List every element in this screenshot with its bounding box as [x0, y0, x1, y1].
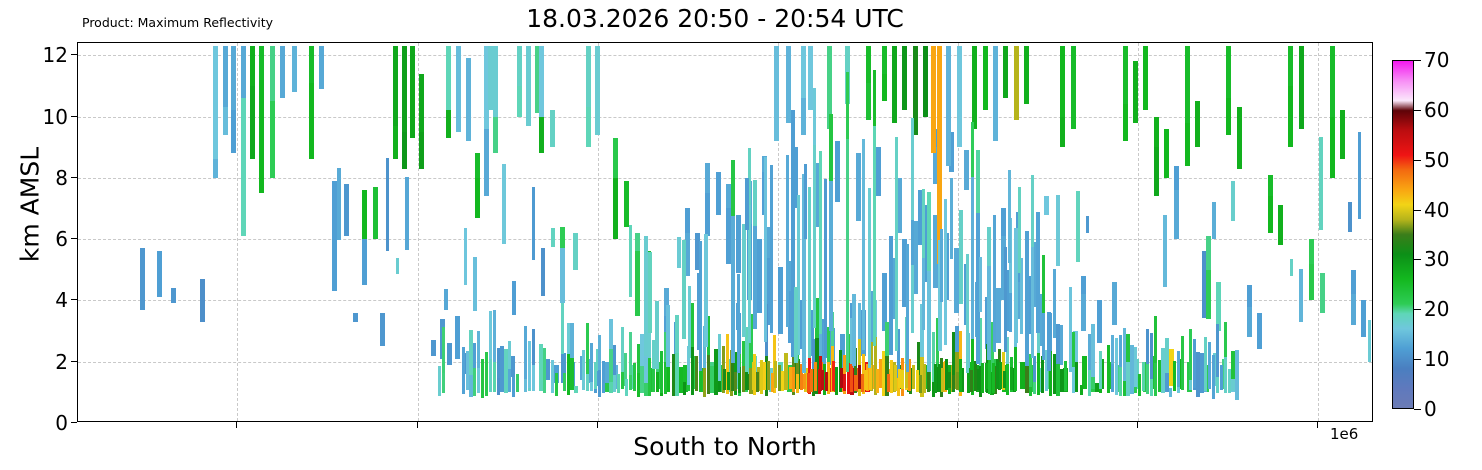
colorbar-tick-label-50: 50: [1424, 148, 1449, 172]
reflectivity-column: [259, 46, 264, 80]
colorbar-tick-label-20: 20: [1424, 297, 1449, 321]
reflectivity-column: [714, 349, 717, 395]
reflectivity-column: [695, 356, 698, 390]
reflectivity-column: [726, 205, 731, 263]
reflectivity-column: [892, 46, 897, 123]
reflectivity-column: [876, 147, 881, 196]
reflectivity-column: [1185, 117, 1190, 166]
reflectivity-column: [756, 372, 759, 392]
reflectivity-column: [1319, 137, 1323, 230]
reflectivity-column: [898, 369, 901, 388]
reflectivity-column: [250, 46, 255, 86]
reflectivity-column: [419, 129, 424, 169]
reflectivity-column: [1123, 46, 1128, 104]
reflectivity-column: [517, 46, 522, 86]
reflectivity-column: [1340, 110, 1345, 159]
colorbar-tick-label-0: 0: [1424, 397, 1437, 421]
reflectivity-column: [488, 46, 493, 110]
x-tick-mark: [417, 422, 418, 428]
reflectivity-column: [493, 310, 496, 362]
reflectivity-column: [1064, 361, 1067, 391]
reflectivity-column: [1097, 300, 1102, 343]
reflectivity-column: [959, 210, 963, 304]
colorbar-tick-label-70: 70: [1424, 48, 1449, 72]
reflectivity-column: [716, 172, 721, 215]
colorbar-tick-mark: [1414, 110, 1421, 111]
reflectivity-column: [1056, 195, 1060, 266]
reflectivity-column: [801, 46, 806, 98]
reflectivity-column: [821, 370, 824, 390]
reflectivity-column: [489, 311, 492, 359]
reflectivity-column: [528, 341, 531, 388]
reflectivity-column: [916, 370, 919, 392]
reflectivity-column: [887, 374, 890, 392]
reflectivity-column: [438, 366, 441, 396]
reflectivity-column: [731, 198, 734, 363]
reflectivity-column: [561, 303, 565, 354]
reflectivity-column: [718, 334, 721, 381]
reflectivity-column: [752, 362, 755, 390]
reflectivity-column: [794, 287, 798, 363]
reflectivity-column: [1033, 356, 1036, 382]
reflectivity-column: [524, 326, 527, 379]
reflectivity-column: [613, 175, 618, 239]
reflectivity-column: [832, 361, 835, 391]
reflectivity-column: [835, 141, 840, 202]
reflectivity-column: [477, 331, 480, 368]
colorbar-gradient: [1392, 60, 1414, 409]
reflectivity-column: [1165, 338, 1168, 373]
colorbar-tick-mark: [1414, 160, 1421, 161]
y-tick-label-0: 0: [34, 411, 68, 435]
reflectivity-column: [813, 127, 816, 328]
reflectivity-column: [861, 374, 864, 393]
reflectivity-column: [462, 347, 465, 394]
reflectivity-column: [852, 294, 856, 366]
reflectivity-column: [504, 349, 507, 393]
reflectivity-column: [621, 327, 624, 373]
reflectivity-column: [1173, 361, 1176, 390]
reflectivity-column: [1081, 291, 1086, 331]
reflectivity-column: [1208, 342, 1211, 389]
reflectivity-column: [736, 215, 741, 273]
reflectivity-column: [1196, 352, 1199, 397]
reflectivity-column: [466, 58, 471, 141]
reflectivity-column: [1053, 354, 1056, 394]
colorbar-tick-label-60: 60: [1424, 98, 1449, 122]
reflectivity-column: [1268, 175, 1273, 196]
reflectivity-column: [1115, 338, 1118, 389]
reflectivity-column: [955, 326, 958, 352]
y-tick-mark: [71, 422, 77, 423]
reflectivity-column: [1047, 312, 1050, 371]
reflectivity-column: [944, 199, 947, 345]
reflectivity-column: [866, 46, 871, 86]
reflectivity-column: [979, 257, 983, 312]
reflectivity-column: [1095, 383, 1098, 391]
reflectivity-column: [475, 153, 480, 178]
reflectivity-column: [666, 305, 669, 367]
colorbar-tick-label-40: 40: [1424, 198, 1449, 222]
reflectivity-column: [966, 254, 969, 373]
reflectivity-column: [889, 236, 892, 355]
reflectivity-column: [1134, 347, 1137, 387]
reflectivity-column: [464, 228, 468, 285]
reflectivity-column: [971, 122, 974, 177]
reflectivity-column: [555, 373, 558, 396]
reflectivity-column: [635, 233, 640, 251]
reflectivity-column: [885, 322, 888, 356]
reflectivity-column: [1031, 229, 1034, 358]
reflectivity-column: [512, 377, 515, 396]
reflectivity-column: [829, 163, 832, 331]
reflectivity-column: [213, 159, 218, 177]
reflectivity-column: [1169, 388, 1172, 397]
reflectivity-column: [1257, 313, 1262, 350]
reflectivity-column: [763, 362, 766, 390]
reflectivity-column: [1212, 202, 1216, 239]
reflectivity-column: [1072, 332, 1075, 367]
reflectivity-column: [992, 363, 995, 393]
reflectivity-column: [803, 374, 806, 389]
reflectivity-column: [778, 267, 783, 334]
reflectivity-column: [745, 178, 749, 230]
reflectivity-data: [78, 43, 1372, 421]
reflectivity-column: [1041, 356, 1044, 393]
reflectivity-column: [1088, 334, 1091, 370]
reflectivity-column: [1237, 107, 1242, 168]
reflectivity-column: [1177, 351, 1180, 387]
reflectivity-column: [1161, 348, 1164, 393]
reflectivity-column: [1309, 258, 1314, 301]
reflectivity-column: [843, 374, 846, 391]
reflectivity-column: [446, 46, 451, 110]
reflectivity-column: [200, 279, 205, 322]
reflectivity-column: [846, 120, 849, 372]
y-tick-label-4: 4: [34, 288, 68, 312]
reflectivity-column: [629, 225, 633, 297]
reflectivity-column: [1130, 345, 1133, 394]
reflectivity-column: [781, 371, 784, 390]
x-tick-mark: [957, 422, 958, 428]
reflectivity-column: [940, 229, 944, 302]
reflectivity-column: [1146, 329, 1149, 364]
reflectivity-column: [778, 365, 781, 391]
reflectivity-column: [810, 369, 813, 392]
plot-area[interactable]: [77, 42, 1373, 422]
y-tick-label-6: 6: [34, 227, 68, 251]
reflectivity-column: [688, 286, 691, 357]
reflectivity-column: [309, 46, 314, 83]
reflectivity-column: [734, 372, 737, 391]
reflectivity-column: [402, 46, 407, 132]
radar-cross-section-figure: Product: Maximum Reflectivity 18.03.2026…: [0, 0, 1482, 470]
reflectivity-column: [280, 46, 285, 98]
reflectivity-column: [573, 233, 578, 270]
reflectivity-column: [241, 46, 246, 98]
y-tick-label-12: 12: [34, 43, 68, 67]
reflectivity-column: [987, 227, 990, 266]
reflectivity-column: [442, 327, 445, 373]
reflectivity-column: [1003, 371, 1006, 388]
reflectivity-column: [598, 335, 601, 371]
reflectivity-column: [808, 46, 813, 110]
reflectivity-column: [1204, 337, 1207, 390]
reflectivity-column: [879, 359, 882, 389]
reflectivity-column: [1133, 61, 1138, 122]
reflectivity-column: [539, 344, 542, 391]
reflectivity-column: [856, 153, 861, 220]
y-tick-labels: 024681012: [28, 42, 68, 422]
reflectivity-column: [1206, 236, 1211, 270]
reflectivity-column: [475, 172, 480, 218]
reflectivity-column: [858, 365, 861, 389]
reflectivity-column: [393, 126, 398, 160]
y-tick-label-2: 2: [34, 350, 68, 374]
reflectivity-column: [672, 354, 675, 396]
reflectivity-column: [873, 70, 876, 125]
reflectivity-column: [660, 351, 663, 393]
reflectivity-column: [551, 360, 554, 392]
reflectivity-column: [386, 158, 390, 251]
reflectivity-column: [1080, 385, 1083, 395]
reflectivity-column: [957, 46, 962, 147]
reflectivity-column: [983, 46, 988, 110]
reflectivity-column: [157, 251, 162, 297]
reflectivity-column: [854, 375, 857, 391]
reflectivity-column: [629, 332, 632, 376]
reflectivity-column: [644, 236, 647, 356]
reflectivity-column: [850, 364, 853, 392]
reflectivity-column: [981, 363, 984, 393]
reflectivity-column: [344, 184, 349, 236]
reflectivity-column: [865, 370, 868, 389]
reflectivity-column: [789, 367, 792, 389]
reflectivity-column: [934, 364, 937, 392]
reflectivity-column: [1142, 362, 1145, 391]
reflectivity-column: [410, 46, 415, 138]
x-axis-label: South to North: [77, 432, 1373, 461]
reflectivity-column: [637, 344, 640, 372]
reflectivity-column: [727, 372, 730, 390]
reflectivity-column: [1143, 46, 1148, 110]
reflectivity-column: [977, 369, 980, 390]
reflectivity-column: [1290, 259, 1294, 276]
reflectivity-column: [551, 228, 555, 247]
reflectivity-column: [560, 248, 565, 303]
x-tick-mark: [777, 422, 778, 428]
reflectivity-column: [1031, 175, 1034, 247]
reflectivity-column: [1112, 282, 1117, 325]
reflectivity-column: [1189, 329, 1192, 380]
reflectivity-column: [1164, 129, 1169, 178]
reflectivity-column: [447, 343, 452, 364]
reflectivity-column: [869, 365, 872, 391]
reflectivity-column: [393, 46, 398, 129]
reflectivity-column: [1069, 287, 1072, 372]
reflectivity-column: [959, 359, 962, 392]
reflectivity-column: [1358, 132, 1362, 219]
reflectivity-column: [1025, 231, 1028, 366]
reflectivity-column: [1299, 269, 1303, 322]
reflectivity-column: [675, 315, 678, 353]
reflectivity-column: [835, 367, 838, 395]
reflectivity-column: [539, 46, 544, 116]
reflectivity-column: [1368, 320, 1372, 362]
reflectivity-column: [685, 208, 690, 233]
reflectivity-column: [1351, 270, 1356, 295]
reflectivity-column: [1053, 269, 1056, 338]
reflectivity-column: [964, 150, 969, 190]
reflectivity-column: [890, 360, 893, 393]
reflectivity-column: [1107, 345, 1110, 393]
x-tick-mark: [1317, 422, 1318, 428]
reflectivity-column: [770, 165, 773, 333]
reflectivity-column: [819, 151, 822, 334]
reflectivity-column: [1001, 208, 1006, 236]
reflectivity-column: [876, 369, 879, 393]
reflectivity-column: [679, 367, 682, 393]
reflectivity-column: [946, 46, 951, 166]
reflectivity-column: [1003, 46, 1008, 98]
reflectivity-column: [466, 351, 469, 390]
colorbar[interactable]: [1392, 60, 1414, 409]
reflectivity-column: [705, 163, 710, 197]
reflectivity-column: [213, 46, 218, 162]
reflectivity-column: [1060, 369, 1063, 391]
reflectivity-column: [753, 180, 756, 226]
colorbar-tick-mark: [1414, 359, 1421, 360]
reflectivity-column: [1081, 276, 1086, 294]
reflectivity-column: [655, 301, 658, 369]
reflectivity-column: [353, 313, 358, 322]
reflectivity-column: [923, 46, 928, 116]
x-tick-mark: [236, 422, 237, 428]
reflectivity-column: [1111, 335, 1114, 364]
reflectivity-column: [563, 373, 566, 391]
reflectivity-column: [912, 365, 915, 389]
reflectivity-column: [1181, 336, 1184, 389]
reflectivity-column: [1206, 264, 1211, 319]
reflectivity-column: [771, 373, 774, 392]
reflectivity-column: [764, 157, 767, 342]
y-tick-label-8: 8: [34, 166, 68, 190]
reflectivity-column: [526, 46, 531, 126]
reflectivity-column: [481, 359, 484, 398]
reflectivity-column: [595, 46, 600, 135]
reflectivity-column: [956, 372, 959, 390]
reflectivity-column: [570, 323, 573, 357]
reflectivity-column: [380, 313, 385, 347]
reflectivity-column: [825, 372, 828, 391]
reflectivity-column: [473, 368, 476, 396]
reflectivity-column: [901, 370, 904, 389]
reflectivity-column: [1231, 351, 1234, 378]
reflectivity-column: [985, 363, 988, 389]
reflectivity-column: [731, 360, 734, 392]
reflectivity-column: [1154, 141, 1159, 196]
reflectivity-column: [774, 46, 779, 141]
reflectivity-column: [259, 74, 264, 194]
reflectivity-column: [613, 345, 616, 375]
reflectivity-column: [1163, 215, 1167, 287]
reflectivity-column: [1224, 322, 1227, 357]
reflectivity-column: [337, 168, 341, 240]
reflectivity-column: [1193, 339, 1196, 388]
reflectivity-column: [1060, 113, 1065, 147]
reflectivity-column: [976, 150, 979, 213]
reflectivity-column: [469, 330, 472, 375]
reflectivity-column: [948, 372, 951, 388]
reflectivity-column: [1126, 334, 1129, 363]
reflectivity-column: [868, 188, 871, 368]
reflectivity-column: [1195, 101, 1200, 147]
reflectivity-column: [541, 248, 545, 296]
reflectivity-column: [988, 359, 991, 394]
reflectivity-column: [938, 364, 941, 392]
reflectivity-column: [705, 193, 710, 236]
reflectivity-column: [873, 107, 876, 345]
reflectivity-column: [373, 187, 378, 239]
colorbar-tick-label-10: 10: [1424, 347, 1449, 371]
reflectivity-column: [362, 239, 367, 285]
x-axis-offset-label: 1e6: [1330, 425, 1358, 443]
reflectivity-column: [635, 245, 640, 315]
reflectivity-column: [682, 240, 685, 339]
reflectivity-column: [532, 187, 536, 260]
reflectivity-column: [1212, 355, 1215, 399]
reflectivity-column: [431, 340, 436, 355]
reflectivity-column: [677, 237, 681, 268]
reflectivity-column: [1320, 273, 1325, 313]
reflectivity-column: [140, 248, 145, 309]
reflectivity-column: [895, 137, 898, 351]
reflectivity-column: [586, 323, 589, 374]
x-tick-mark: [1137, 422, 1138, 428]
reflectivity-column: [829, 114, 832, 181]
reflectivity-column: [736, 303, 740, 330]
reflectivity-column: [1099, 351, 1102, 389]
reflectivity-column: [617, 374, 620, 394]
reflectivity-column: [840, 368, 843, 388]
reflectivity-column: [223, 46, 228, 107]
reflectivity-column: [894, 365, 897, 391]
reflectivity-column: [760, 360, 763, 394]
reflectivity-column: [1247, 285, 1252, 306]
reflectivity-column: [919, 375, 922, 393]
reflectivity-column: [941, 368, 944, 393]
reflectivity-column: [1185, 46, 1190, 123]
reflectivity-column: [927, 192, 930, 271]
reflectivity-column: [697, 273, 701, 349]
reflectivity-column: [574, 386, 577, 392]
reflectivity-column: [807, 373, 810, 393]
reflectivity-column: [1086, 216, 1090, 233]
reflectivity-column: [516, 374, 519, 392]
reflectivity-column: [241, 92, 246, 236]
reflectivity-column: [1076, 191, 1080, 262]
reflectivity-column: [902, 46, 907, 110]
reflectivity-column: [952, 375, 955, 391]
reflectivity-column: [1029, 354, 1032, 386]
reflectivity-column: [742, 366, 745, 390]
reflectivity-column: [1123, 328, 1126, 381]
reflectivity-column: [602, 361, 605, 393]
reflectivity-column: [757, 239, 762, 313]
reflectivity-column: [1200, 353, 1203, 393]
reflectivity-column: [1138, 374, 1141, 397]
colorbar-tick-mark: [1414, 309, 1421, 310]
